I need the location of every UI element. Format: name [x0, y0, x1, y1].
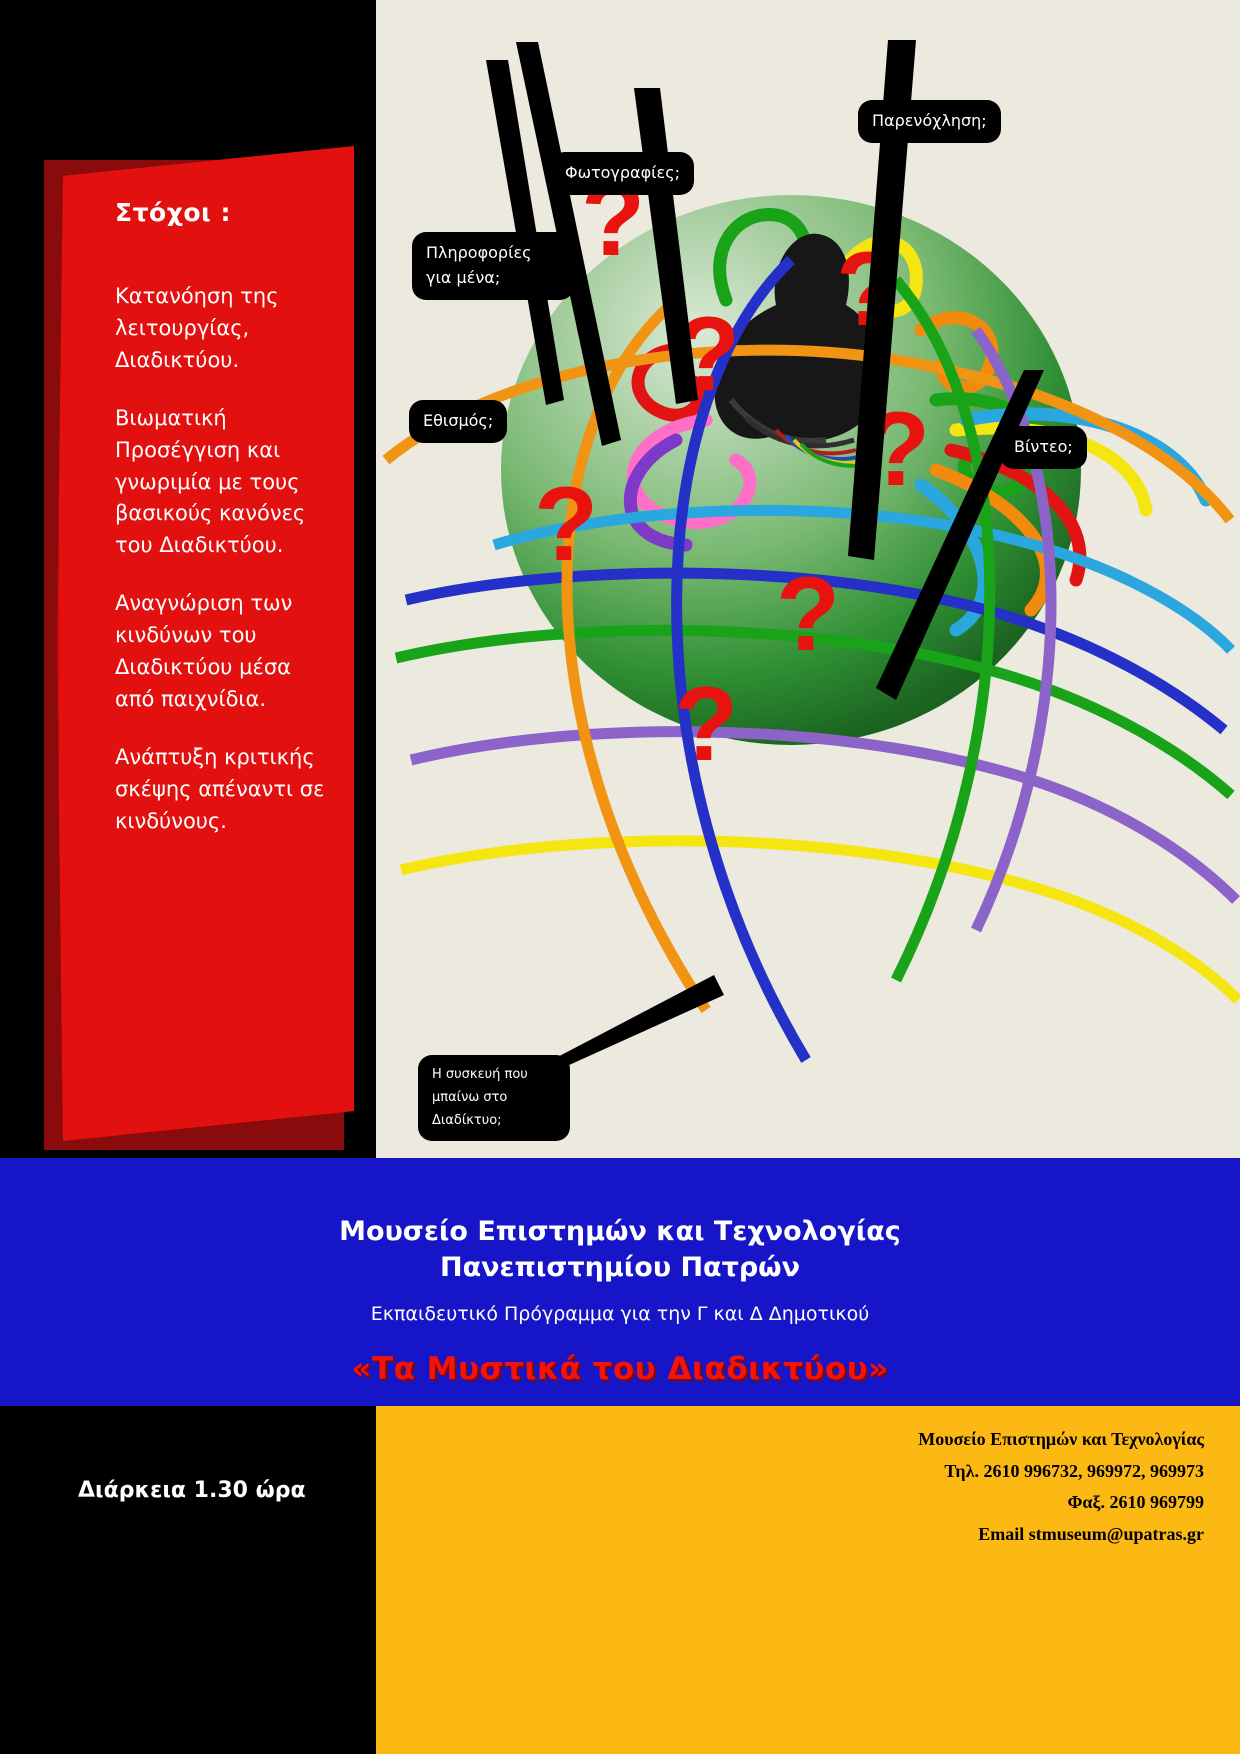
- svg-text:?: ?: [776, 556, 840, 673]
- objective-item-4: Ανάπτυξη κριτικής σκέψης απέναντι σε κιν…: [115, 742, 328, 838]
- program-title: «Τα Μυστικά του Διαδικτύου»: [0, 1351, 1240, 1387]
- museum-title-line2: Πανεπιστημίου Πατρών: [440, 1252, 800, 1283]
- objective-item-1: Κατανόηση της λειτουργίας, Διαδικτύου.: [115, 281, 328, 377]
- contact-line-fax: Φαξ. 2610 969799: [444, 1487, 1204, 1519]
- duration-label: Διάρκεια 1.30 ώρα: [78, 1478, 378, 1503]
- poster-root: ? ? ? ? ? ? ?: [0, 0, 1240, 1754]
- svg-text:?: ?: [534, 466, 598, 583]
- bubble-fotografies[interactable]: Φωτογραφίες;: [551, 152, 694, 195]
- museum-title-line1: Μουσείο Επιστημών και Τεχνολογίας: [339, 1216, 901, 1247]
- bubble-syskevi[interactable]: Η συσκευή που μπαίνω στο Διαδίκτυο;: [418, 1055, 570, 1141]
- objective-item-3: Αναγνώριση των κινδύνων του Διαδικτύου μ…: [115, 588, 328, 716]
- contact-box: Μουσείο Επιστημών και Τεχνολογίας Τηλ. 2…: [376, 1406, 1240, 1754]
- bubble-parenochlisi[interactable]: Παρενόχληση;: [858, 100, 1001, 143]
- contact-details: Μουσείο Επιστημών και Τεχνολογίας Τηλ. 2…: [444, 1424, 1204, 1550]
- bubble-ethismos[interactable]: Εθισμός;: [409, 400, 507, 443]
- objectives-panel: Στόχοι : Κατανόηση της λειτουργίας, Διαδ…: [57, 146, 354, 1141]
- bubble-vinteo[interactable]: Βίντεο;: [1000, 426, 1087, 469]
- objectives-heading: Στόχοι :: [115, 198, 328, 227]
- contact-line-phone: Τηλ. 2610 996732, 969972, 969973: [444, 1456, 1204, 1488]
- blue-footer-bar: Μουσείο Επιστημών και Τεχνολογίας Πανεπι…: [0, 1158, 1240, 1406]
- contact-line-email[interactable]: Email stmuseum@upatras.gr: [444, 1519, 1204, 1551]
- objective-item-2: Βιωματική Προσέγγιση και γνωριμία με του…: [115, 403, 328, 563]
- museum-title: Μουσείο Επιστημών και Τεχνολογίας Πανεπι…: [0, 1158, 1240, 1285]
- svg-text:?: ?: [674, 666, 738, 783]
- program-subtitle: Εκπαιδευτικό Πρόγραμμα για την Γ και Δ Δ…: [0, 1303, 1240, 1325]
- bubble-plirofories[interactable]: Πληροφορίες για μένα;: [412, 232, 574, 300]
- globe-illustration: ? ? ? ? ? ? ?: [376, 0, 1240, 1158]
- contact-line-museum: Μουσείο Επιστημών και Τεχνολογίας: [444, 1424, 1204, 1456]
- illustration-stage: ? ? ? ? ? ? ?: [376, 0, 1240, 1158]
